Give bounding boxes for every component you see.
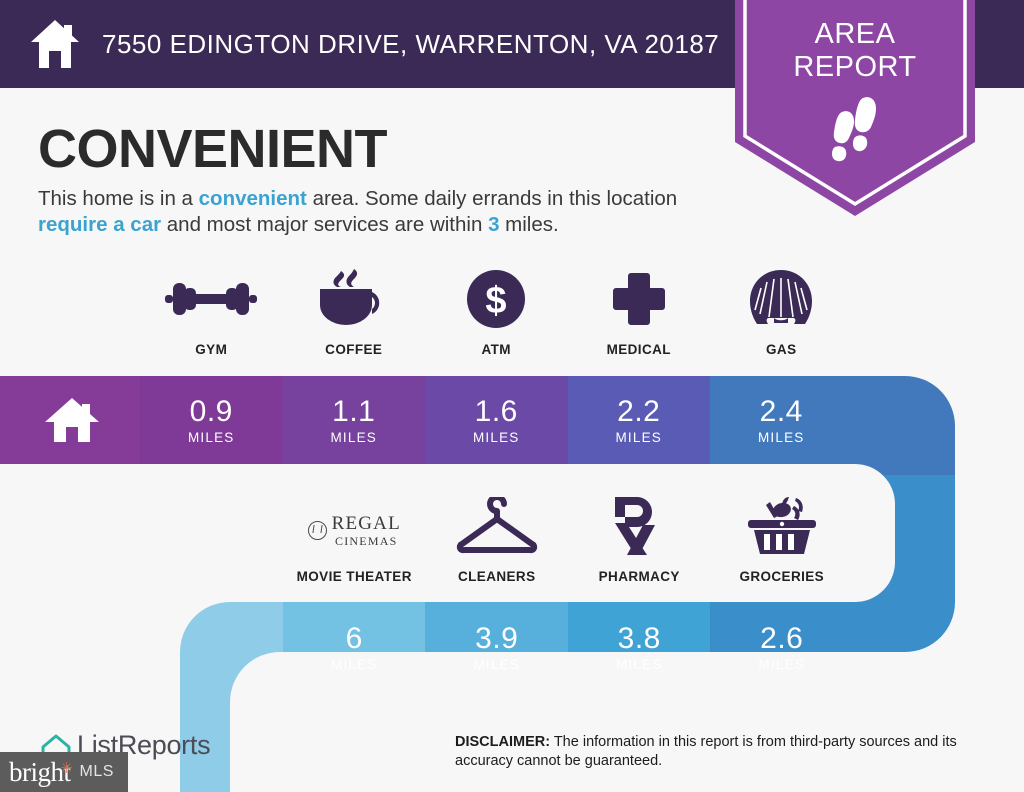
amenity-gym[interactable]: GYM <box>140 268 283 357</box>
amenity-label: GYM <box>195 342 227 357</box>
ribbon-cell-gym <box>140 370 283 470</box>
ribbon-start-cap <box>150 590 283 792</box>
coffee-cup-icon <box>316 268 392 330</box>
disclaimer: DISCLAIMER: The information in this repo… <box>455 733 1000 771</box>
svg-text:$: $ <box>486 280 507 322</box>
ribbon-cell-coffee <box>283 370 425 470</box>
brand-reports: Reports <box>118 730 210 760</box>
watermark-mls: MLS <box>80 763 114 781</box>
dumbbell-icon <box>165 268 257 330</box>
ribbon-turn-upper <box>855 370 1024 475</box>
ribbon-cell-atm <box>425 370 568 470</box>
page-description: This home is in a convenient area. Some … <box>38 186 728 238</box>
ribbon-cell-gas <box>710 370 855 470</box>
ribbon-cell-movie <box>283 590 425 700</box>
ribbon-cell-medical <box>568 370 710 470</box>
desc-part-1: This home is in a <box>38 187 199 210</box>
amenity-label: PHARMACY <box>599 569 680 584</box>
regal-mark-icon <box>308 521 327 540</box>
rx-icon <box>611 495 667 557</box>
area-report-page: 7550 EDINGTON DRIVE, WARRENTON, VA 20187… <box>0 0 1024 792</box>
amenity-label: CLEANERS <box>458 569 535 584</box>
amenity-label: COFFEE <box>325 342 382 357</box>
ribbon-home-icon <box>44 396 100 444</box>
ribbon-cell-pharmacy <box>568 590 710 700</box>
regal-line-1: REGAL <box>332 514 401 533</box>
desc-part-4: miles. <box>499 213 558 236</box>
dollar-circle-icon: $ <box>467 268 525 330</box>
amenity-icons-row-1: GYM COFFEE $ <box>140 268 853 357</box>
area-report-badge: AREA REPORT <box>735 0 975 216</box>
amenity-gas[interactable]: GAS <box>710 268 853 357</box>
amenity-groceries[interactable]: GROCERIES <box>711 495 854 584</box>
medical-cross-icon <box>611 268 667 330</box>
home-icon <box>30 18 80 70</box>
amenity-atm[interactable]: $ ATM <box>425 268 568 357</box>
amenity-medical[interactable]: MEDICAL <box>568 268 711 357</box>
amenity-label: ATM <box>482 342 511 357</box>
ribbon-cell-groceries <box>710 590 860 700</box>
amenity-pharmacy[interactable]: PHARMACY <box>568 495 711 584</box>
amenity-cleaners[interactable]: CLEANERS <box>426 495 569 584</box>
amenity-coffee[interactable]: COFFEE <box>283 268 426 357</box>
disclaimer-label: DISCLAIMER: <box>455 734 550 750</box>
amenity-movie-theater[interactable]: REGAL CINEMAS MOVIE THEATER <box>283 495 426 584</box>
grocery-basket-icon <box>746 495 818 557</box>
amenity-label: MOVIE THEATER <box>297 569 412 584</box>
desc-part-3: and most major services are within <box>161 213 488 236</box>
desc-highlight-3: 3 <box>488 213 499 236</box>
desc-highlight-2: require a car <box>38 213 161 236</box>
regal-line-2: CINEMAS <box>332 535 401 547</box>
watermark-star-icon: ✳ <box>60 759 72 778</box>
desc-part-2: area. Some daily errands in this locatio… <box>307 187 677 210</box>
ribbon-turn-lower <box>855 475 1024 655</box>
amenity-label: GAS <box>766 342 796 357</box>
desc-highlight-1: convenient <box>199 187 307 210</box>
amenity-label: MEDICAL <box>607 342 671 357</box>
amenity-label: GROCERIES <box>739 569 824 584</box>
property-address: 7550 EDINGTON DRIVE, WARRENTON, VA 20187 <box>102 29 719 60</box>
regal-cinemas-logo: REGAL CINEMAS <box>308 495 401 557</box>
shell-icon <box>750 268 812 330</box>
page-title: CONVENIENT <box>38 118 387 180</box>
clothes-hanger-icon <box>454 495 540 557</box>
amenity-icons-row-2: REGAL CINEMAS MOVIE THEATER CLEANERS <box>283 495 853 584</box>
ribbon-cell-cleaners <box>425 590 568 700</box>
pennant-shape <box>735 0 975 216</box>
watermark-brand: bright✳ <box>9 757 71 788</box>
bright-mls-watermark: bright✳ MLS <box>0 752 128 792</box>
